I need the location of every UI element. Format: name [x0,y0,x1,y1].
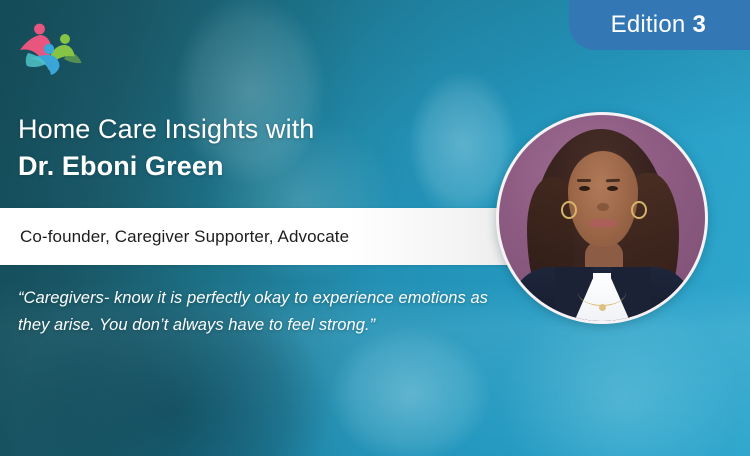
three-people-logo-icon[interactable] [15,18,89,76]
portrait-illustration [499,115,705,321]
headline-line-1: Home Care Insights with [18,112,314,147]
edition-badge: Edition 3 [569,0,750,50]
role-text: Co-founder, Caregiver Supporter, Advocat… [20,227,349,247]
quote-text: “Caregivers- know it is perfectly okay t… [18,285,488,338]
avatar [496,112,708,324]
promo-banner: Edition 3 Home Care Insights with Dr. Eb… [0,0,750,456]
headline-line-2: Dr. Eboni Green [18,149,314,184]
headline: Home Care Insights with Dr. Eboni Green [18,112,314,183]
edition-label: Edition [611,11,686,39]
role-bar: Co-founder, Caregiver Supporter, Advocat… [0,208,560,265]
edition-number: 3 [692,11,706,39]
